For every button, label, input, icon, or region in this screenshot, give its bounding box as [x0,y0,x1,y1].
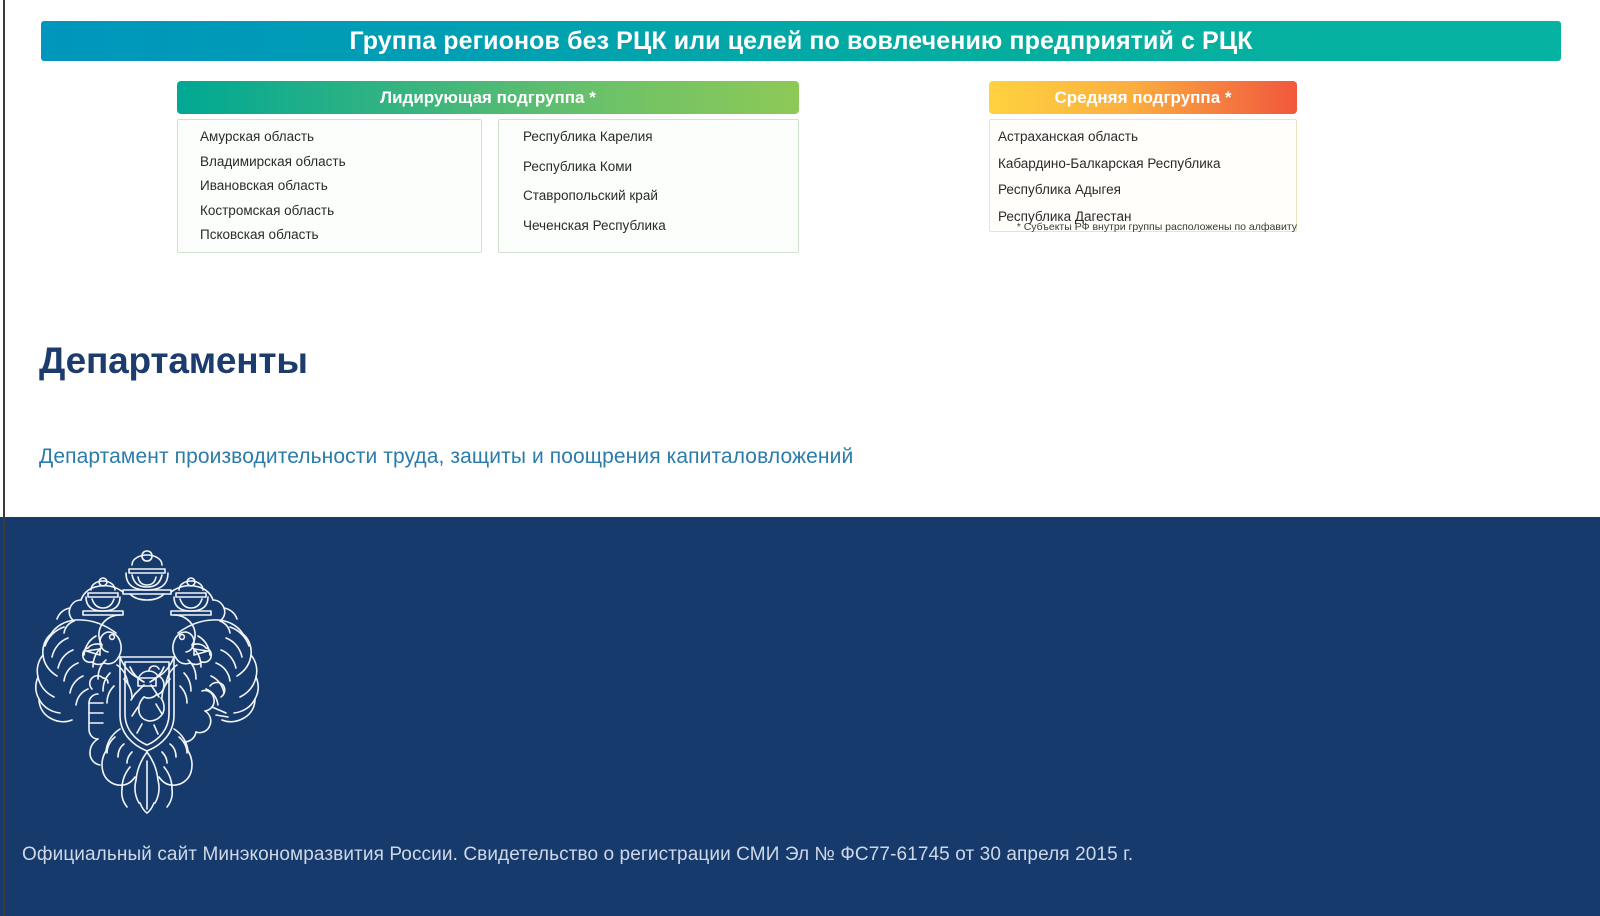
list-item: Псковская область [200,228,481,242]
infographic-footnote: * Субъекты РФ внутри группы расположены … [989,221,1297,233]
subgroup-leading-columns: Амурская область Владимирская область Ив… [177,119,799,253]
region-list-leading-column-1: Амурская область Владимирская область Ив… [177,119,482,253]
list-item: Костромская область [200,204,481,218]
region-list-leading-column-2: Республика Карелия Республика Коми Ставр… [498,119,799,253]
page-root: Группа регионов без РЦК или целей по вов… [0,0,1600,916]
subgroup-leading-header-label: Лидирующая подгруппа * [380,88,596,108]
site-footer: Официальный сайт Минэкономразвития Росси… [0,517,1600,916]
subgroup-leading: Лидирующая подгруппа * Амурская область … [177,81,799,253]
department-link-productivity[interactable]: Департамент производительности труда, за… [39,445,853,469]
list-item: Чеченская Республика [523,219,798,233]
subgroup-middle-columns: Астраханская область Кабардино-Балкарска… [989,119,1297,232]
list-item: Астраханская область [998,130,1296,144]
list-item: Республика Коми [523,160,798,174]
page-title: Департаменты [39,340,1600,382]
subgroup-leading-header: Лидирующая подгруппа * [177,81,799,114]
regions-infographic: Группа регионов без РЦК или целей по вов… [0,0,1600,300]
russian-coat-of-arms-icon [20,539,274,815]
list-item: Ставропольский край [523,189,798,203]
list-item: Кабардино-Балкарская Республика [998,157,1296,171]
subgroup-middle-header-label: Средняя подгруппа * [1055,88,1232,108]
list-item: Республика Адыгея [998,183,1296,197]
list-item: Ивановская область [200,179,481,193]
subgroup-middle-header: Средняя подгруппа * [989,81,1297,114]
region-list-middle-column-1: Астраханская область Кабардино-Балкарска… [989,119,1297,232]
list-item: Амурская область [200,130,481,144]
infographic-banner-title: Группа регионов без РЦК или целей по вов… [349,27,1252,56]
infographic-banner: Группа регионов без РЦК или целей по вов… [41,21,1561,61]
page-left-border [3,0,5,916]
footer-legal-text: Официальный сайт Минэкономразвития Росси… [22,844,1133,866]
list-item: Владимирская область [200,155,481,169]
list-item: Республика Карелия [523,130,798,144]
departments-section: Департаменты Департамент производительно… [0,340,1600,469]
subgroup-middle: Средняя подгруппа * Астраханская область… [989,81,1297,232]
